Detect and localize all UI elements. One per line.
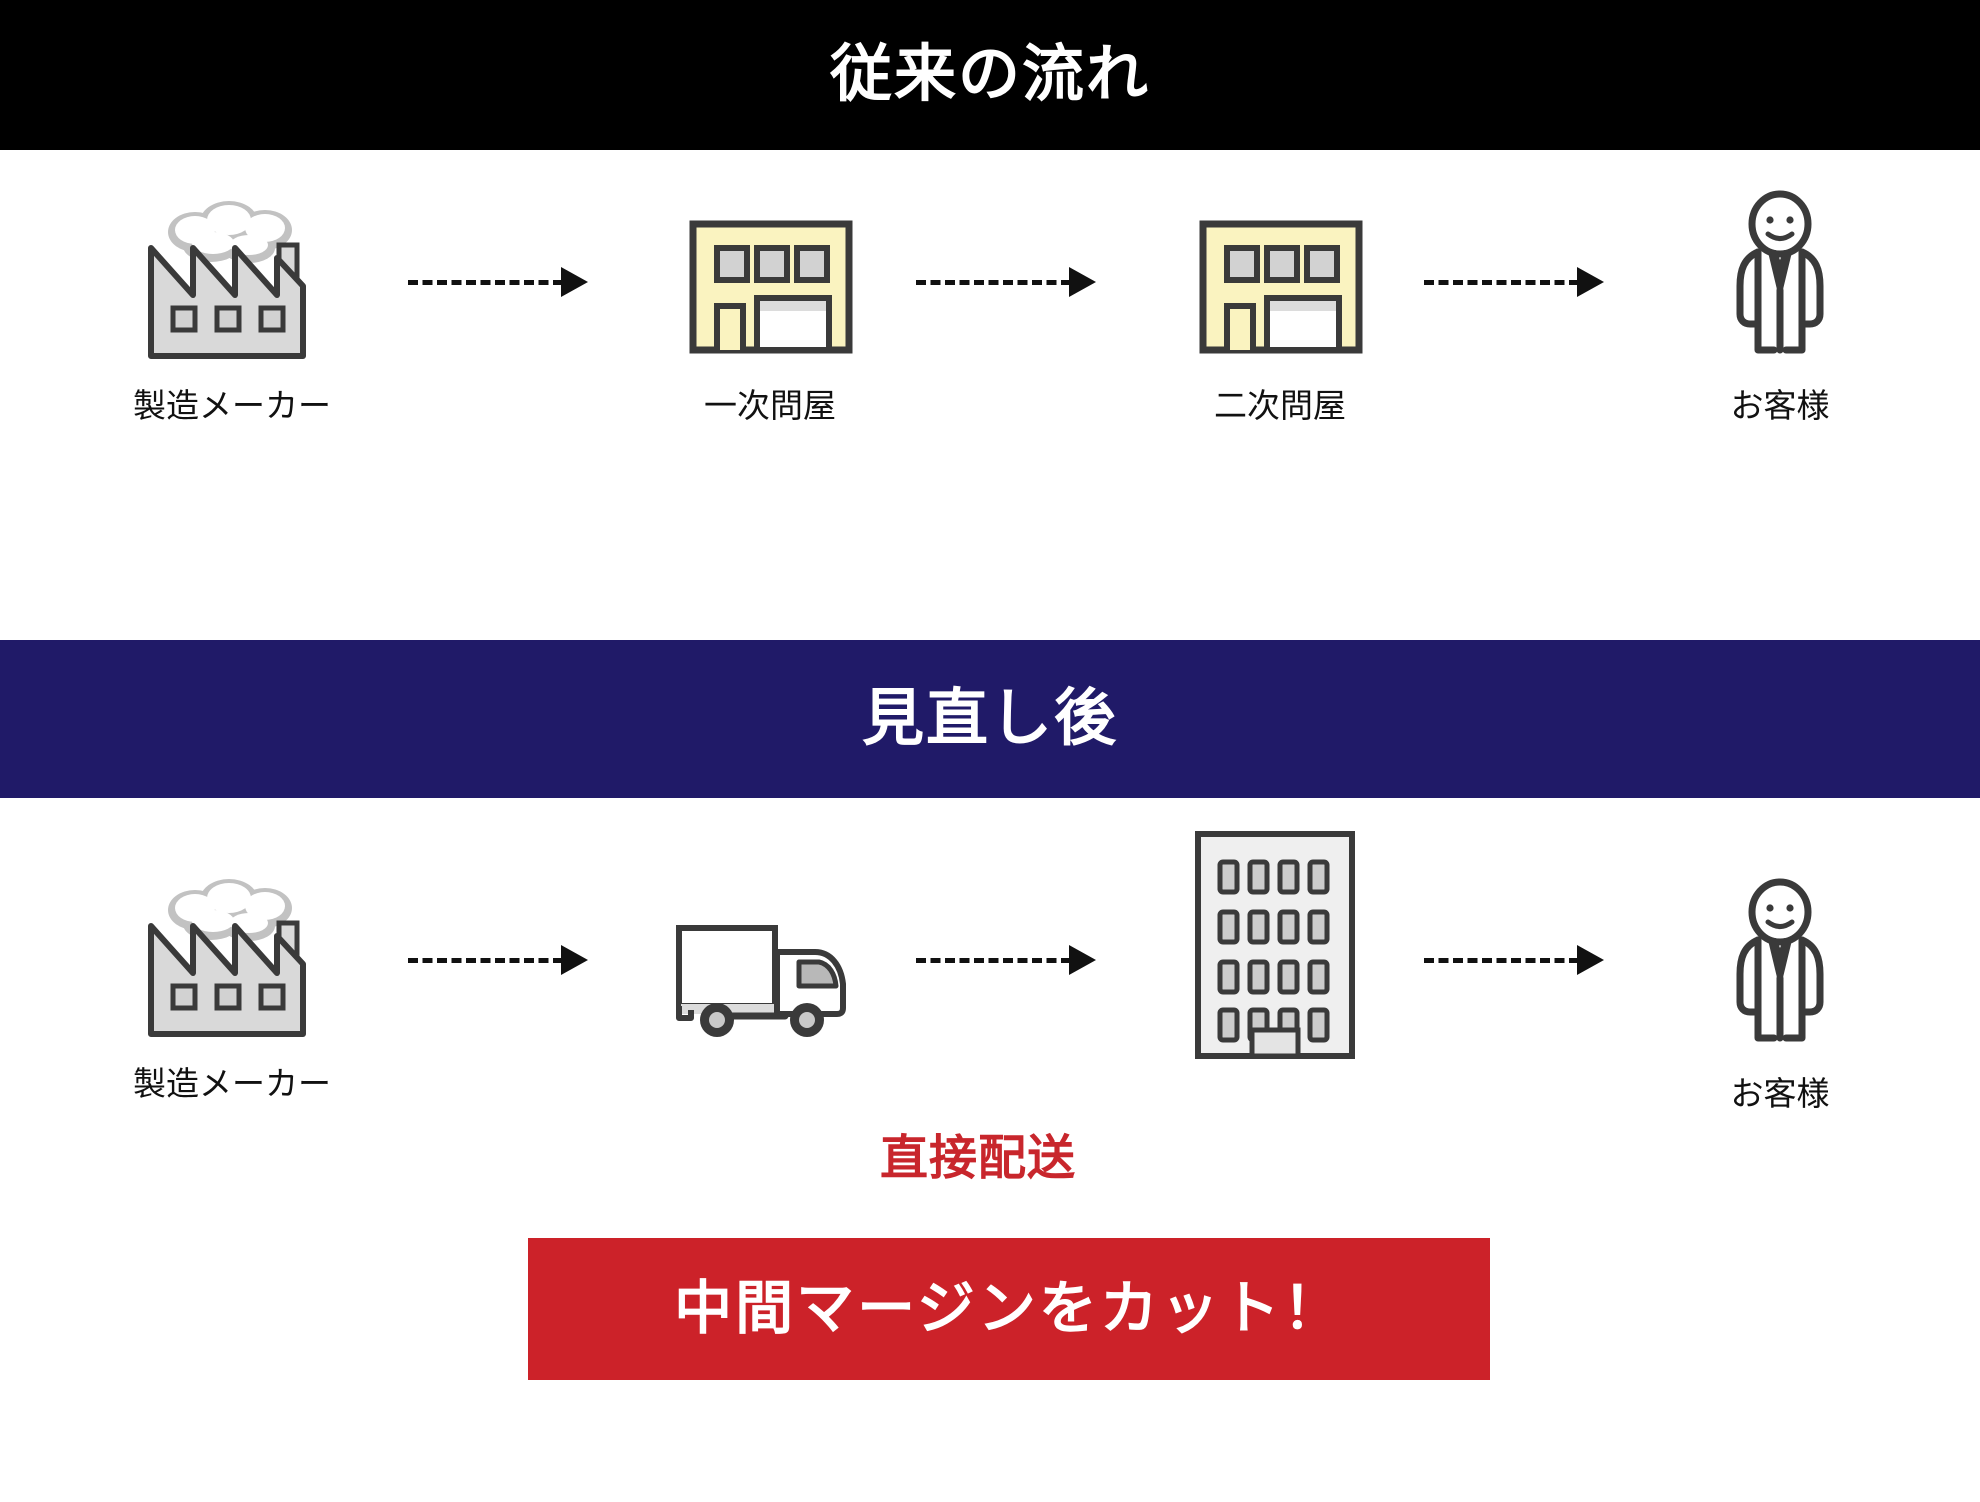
node-label-manufacturer: 製造メーカー bbox=[62, 1066, 402, 1102]
arrow-truck-to-office bbox=[916, 948, 1096, 972]
banner-cut-margin-text: 中間マージンをカット！ bbox=[674, 1280, 1344, 1338]
section-title-before: 従来の流れ bbox=[830, 44, 1150, 106]
arrow-line bbox=[1424, 280, 1579, 285]
node-label-wholesaler-primary: 一次問屋 bbox=[600, 388, 940, 424]
node-label-manufacturer: 製造メーカー bbox=[62, 388, 402, 424]
arrow-line bbox=[1424, 958, 1579, 963]
section-title-after: 見直し後 bbox=[862, 688, 1118, 750]
arrow-line bbox=[408, 958, 563, 963]
factory-icon bbox=[137, 878, 327, 1048]
node-art bbox=[600, 848, 940, 1048]
businessman-icon bbox=[1710, 878, 1850, 1058]
arrow-wholesale2-to-customer bbox=[1424, 270, 1604, 294]
warehouse-icon bbox=[675, 200, 865, 370]
banner-cut-margin: 中間マージンをカット！ bbox=[528, 1238, 1490, 1380]
callout-direct-delivery: 直接配送 bbox=[880, 1118, 1076, 1188]
node-wholesaler-secondary: 二次問屋 bbox=[1110, 170, 1450, 424]
node-office-building bbox=[1105, 818, 1445, 1068]
node-art bbox=[1110, 170, 1450, 370]
arrow-head-icon bbox=[1069, 267, 1096, 297]
section-header-after: 見直し後 bbox=[0, 640, 1980, 798]
section-header-before: 従来の流れ bbox=[0, 0, 1980, 150]
node-label-customer: お客様 bbox=[1610, 1076, 1950, 1112]
arrow-line bbox=[408, 280, 563, 285]
arrow-head-icon bbox=[561, 945, 588, 975]
arrow-line bbox=[916, 958, 1071, 963]
arrow-head-icon bbox=[1577, 267, 1604, 297]
node-label-wholesaler-secondary: 二次問屋 bbox=[1110, 388, 1450, 424]
arrow-head-icon bbox=[1577, 945, 1604, 975]
node-manufacturer-before: 製造メーカー bbox=[62, 170, 402, 424]
node-customer-after: お客様 bbox=[1610, 858, 1950, 1112]
businessman-icon bbox=[1710, 190, 1850, 370]
arrow-maker-to-wholesale1 bbox=[408, 270, 588, 294]
arrow-head-icon bbox=[1069, 945, 1096, 975]
node-label-customer: お客様 bbox=[1610, 388, 1950, 424]
truck-icon bbox=[665, 908, 875, 1048]
node-art bbox=[62, 848, 402, 1048]
node-art bbox=[1105, 818, 1445, 1068]
arrow-wholesale1-to-wholesale2 bbox=[916, 270, 1096, 294]
node-customer-before: お客様 bbox=[1610, 170, 1950, 424]
node-art bbox=[600, 170, 940, 370]
node-wholesaler-primary: 一次問屋 bbox=[600, 170, 940, 424]
warehouse-icon bbox=[1185, 200, 1375, 370]
arrow-maker-to-truck bbox=[408, 948, 588, 972]
node-art bbox=[1610, 170, 1950, 370]
factory-icon bbox=[137, 200, 327, 370]
arrow-line bbox=[916, 280, 1071, 285]
node-direct-delivery bbox=[600, 848, 940, 1048]
node-manufacturer-after: 製造メーカー bbox=[62, 848, 402, 1102]
flow-row-before: 製造メーカー bbox=[0, 150, 1980, 640]
node-art bbox=[1610, 858, 1950, 1058]
arrow-head-icon bbox=[561, 267, 588, 297]
diagram-canvas: 従来の流れ bbox=[0, 0, 1980, 1502]
office-building-icon bbox=[1180, 818, 1370, 1068]
arrow-office-to-customer bbox=[1424, 948, 1604, 972]
node-art bbox=[62, 170, 402, 370]
